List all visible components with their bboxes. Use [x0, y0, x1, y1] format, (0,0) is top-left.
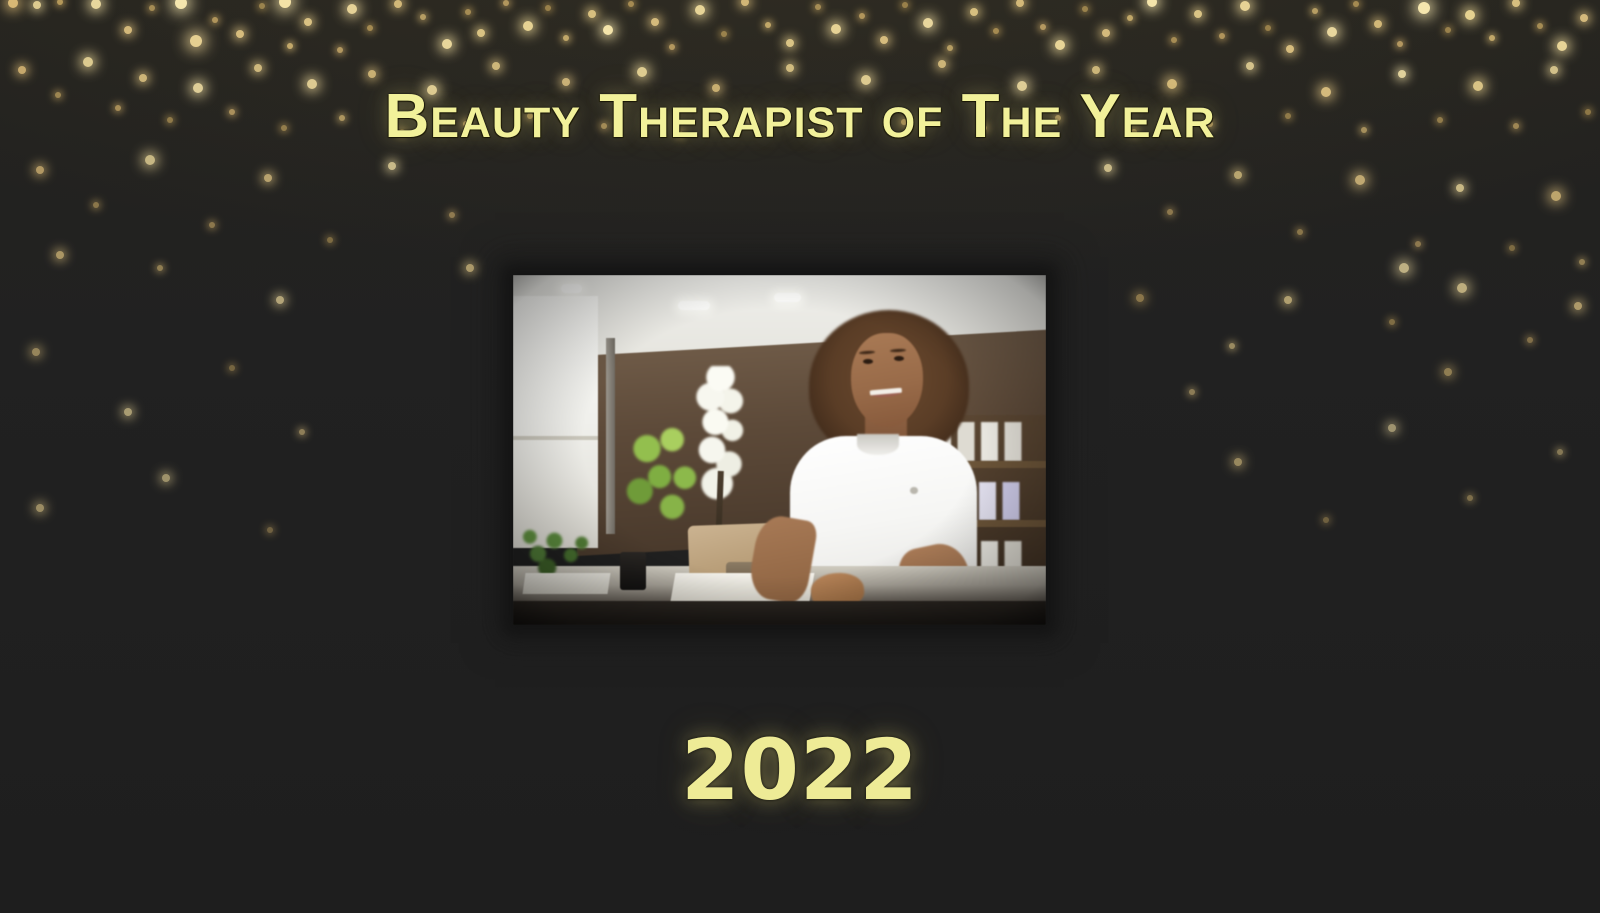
confetti-dot — [264, 174, 272, 182]
confetti-dot — [1234, 171, 1242, 179]
confetti-dot — [209, 222, 215, 228]
confetti-dot — [337, 47, 343, 53]
confetti-dot — [492, 62, 500, 70]
confetti-dot — [1284, 296, 1292, 304]
confetti-dot — [91, 0, 101, 9]
photo-image — [513, 275, 1046, 625]
confetti-dot — [545, 5, 551, 11]
confetti-dot — [267, 527, 273, 533]
confetti-dot — [229, 365, 235, 371]
confetti-dot — [1127, 15, 1133, 21]
confetti-dot — [1055, 40, 1065, 50]
confetti-dot — [145, 155, 155, 165]
confetti-dot — [212, 17, 218, 23]
confetti-dot — [1167, 209, 1173, 215]
confetti-dot — [465, 9, 471, 15]
confetti-dot — [637, 67, 647, 77]
confetti-dot — [993, 28, 999, 34]
confetti-dot — [1551, 191, 1561, 201]
confetti-dot — [1104, 164, 1112, 172]
confetti-dot — [651, 18, 659, 26]
confetti-dot — [56, 251, 64, 259]
counter-front-panel — [513, 601, 1046, 626]
confetti-dot — [1489, 35, 1495, 41]
confetti-dot — [1240, 1, 1250, 11]
confetti-dot — [36, 504, 44, 512]
confetti-dot — [1444, 368, 1452, 376]
confetti-dot — [503, 0, 509, 6]
confetti-dot — [1399, 263, 1409, 273]
confetti-dot — [287, 43, 293, 49]
confetti-dot — [1467, 495, 1473, 501]
confetti-dot — [157, 265, 163, 271]
confetti-dot — [1147, 0, 1157, 7]
confetti-dot — [1574, 302, 1582, 310]
confetti-dot — [162, 474, 170, 482]
confetti-dot — [139, 74, 147, 82]
confetti-dot — [1557, 449, 1563, 455]
page-title: Beauty Therapist of The Year — [0, 86, 1600, 148]
confetti-dot — [347, 4, 357, 14]
confetti-dot — [1509, 245, 1515, 251]
confetti-dot — [124, 26, 132, 34]
confetti-dot — [368, 70, 376, 78]
confetti-dot — [815, 4, 821, 10]
confetti-dot — [1388, 424, 1396, 432]
confetti-dot — [1465, 10, 1475, 20]
confetti-dot — [1102, 29, 1110, 37]
confetti-dot — [786, 39, 794, 47]
confetti-dot — [394, 0, 402, 8]
confetti-dot — [276, 296, 284, 304]
confetti-dot — [18, 66, 26, 74]
confetti-dot — [1265, 25, 1271, 31]
confetti-dot — [190, 35, 202, 47]
confetti-dot — [628, 1, 634, 7]
confetti-dot — [1194, 10, 1202, 18]
confetti-dot — [741, 0, 749, 6]
confetti-dot — [420, 14, 426, 20]
confetti-dot — [1397, 41, 1403, 47]
confetti-dot — [299, 429, 305, 435]
potted-plant — [518, 506, 609, 583]
confetti-dot — [1537, 23, 1543, 29]
award-photo — [513, 275, 1046, 625]
confetti-dot — [175, 0, 187, 9]
confetti-dot — [603, 25, 613, 35]
confetti-dot — [1327, 27, 1337, 37]
confetti-dot — [1234, 458, 1242, 466]
confetti-dot — [8, 0, 18, 8]
confetti-dot — [923, 18, 933, 28]
confetti-dot — [1246, 62, 1254, 70]
confetti-dot — [449, 212, 455, 218]
confetti-dot — [36, 166, 44, 174]
confetti-dot — [33, 1, 41, 9]
confetti-dot — [1297, 229, 1303, 235]
confetti-dot — [1229, 343, 1235, 349]
confetti-dot — [1355, 175, 1365, 185]
confetti-dot — [259, 3, 265, 9]
confetti-dot — [563, 35, 569, 41]
confetti-dot — [765, 22, 771, 28]
confetti-dot — [327, 237, 333, 243]
confetti-dot — [880, 36, 888, 44]
confetti-dot — [83, 57, 93, 67]
confetti-dot — [1136, 294, 1144, 302]
confetti-dot — [1092, 66, 1100, 74]
confetti-dot — [1579, 259, 1585, 265]
confetti-dot — [721, 31, 727, 37]
confetti-dot — [1415, 241, 1421, 247]
confetti-dot — [1398, 70, 1406, 78]
confetti-dot — [1389, 319, 1395, 325]
confetti-dot — [786, 64, 794, 72]
confetti-dot — [1189, 389, 1195, 395]
confetti-dot — [1323, 517, 1329, 523]
confetti-dot — [236, 30, 244, 38]
confetti-dot — [254, 64, 262, 72]
confetti-dot — [669, 44, 675, 50]
confetti-dot — [1557, 41, 1567, 51]
confetti-dot — [388, 162, 396, 170]
confetti-dot — [279, 0, 291, 8]
confetti-dot — [588, 10, 596, 18]
confetti-dot — [859, 13, 865, 19]
confetti-dot — [1445, 27, 1451, 33]
confetti-dot — [1286, 45, 1294, 53]
confetti-dot — [1550, 66, 1558, 74]
confetti-dot — [1580, 14, 1588, 22]
confetti-dot — [1171, 37, 1177, 43]
confetti-dot — [466, 264, 474, 272]
award-slide: Beauty Therapist of The Year — [0, 0, 1600, 913]
counter-paper — [522, 573, 610, 594]
confetti-dot — [304, 18, 312, 26]
confetti-dot — [477, 29, 485, 37]
confetti-dot — [1219, 33, 1225, 39]
confetti-dot — [695, 5, 705, 15]
confetti-dot — [902, 2, 908, 8]
confetti-dot — [93, 202, 99, 208]
confetti-dot — [1016, 0, 1024, 7]
confetti-dot — [442, 39, 452, 49]
confetti-dot — [1082, 6, 1088, 12]
confetti-dot — [1418, 2, 1430, 14]
confetti-dot — [1353, 1, 1359, 7]
confetti-dot — [124, 408, 132, 416]
confetti-dot — [1312, 8, 1318, 14]
confetti-dot — [1040, 24, 1046, 30]
confetti-dot — [831, 24, 841, 34]
plant-pot — [620, 552, 647, 591]
confetti-dot — [57, 0, 63, 5]
confetti-dot — [1527, 337, 1533, 343]
confetti-dot — [523, 21, 533, 31]
confetti-dot — [970, 8, 978, 16]
award-year: 2022 — [0, 728, 1600, 812]
confetti-dot — [32, 348, 40, 356]
confetti-dot — [1456, 184, 1464, 192]
confetti-dot — [947, 45, 953, 51]
confetti-dot — [149, 5, 155, 11]
confetti-dot — [938, 60, 946, 68]
confetti-dot — [367, 25, 373, 31]
confetti-dot — [1457, 283, 1467, 293]
confetti-dot — [1374, 20, 1382, 28]
confetti-dot — [1512, 0, 1520, 7]
